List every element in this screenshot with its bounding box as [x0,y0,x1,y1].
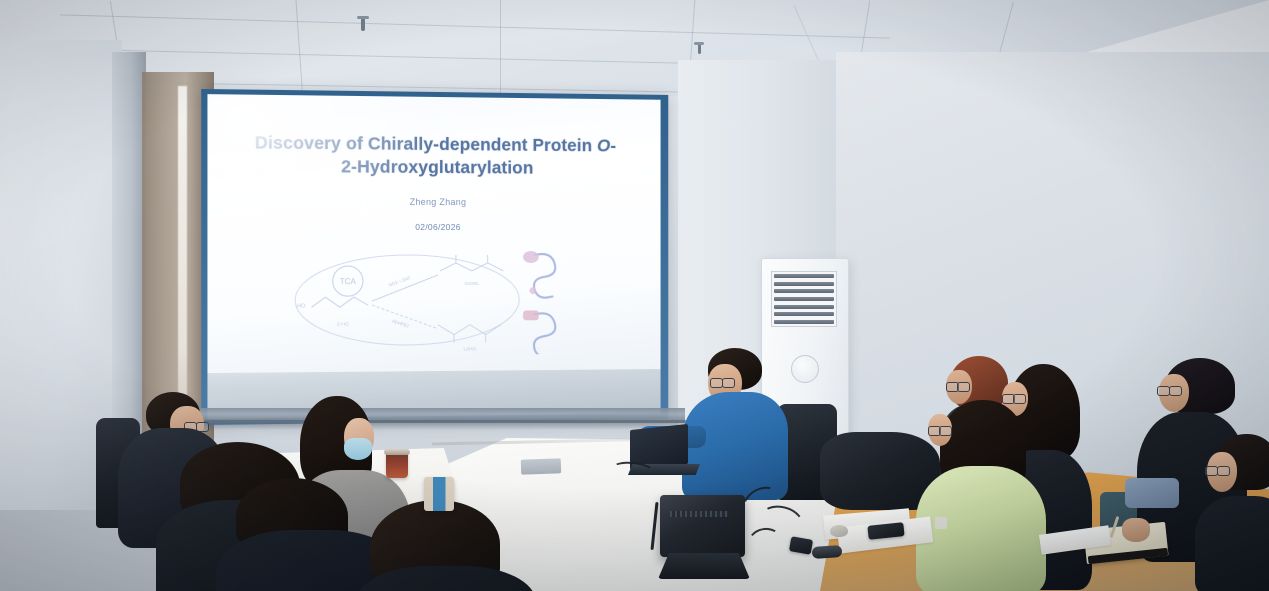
figure-dot-middle [529,287,536,294]
sprinkler-head-1 [361,18,365,31]
slide-pathway-figure: TCA HO 2-HG NOX / OAT ADHFE1 OGML L2H [259,245,612,356]
figure-label-2hg: 2-HG [337,321,349,327]
screen-surface: Discovery of Chirally-dependent Protein … [207,94,660,419]
window-sill-shadow [190,420,690,430]
jeans-lap [1125,478,1179,508]
figure-label-enzyme-bottom: ADHFE1 [391,319,410,329]
slide-title-part2: 2-Hydroxyglutarylation [341,156,533,177]
red-beverage-cup[interactable] [386,452,408,478]
meeting-room-photo: Discovery of Chirally-dependent Protein … [0,0,1269,591]
pathway-diagram-svg: TCA HO 2-HG NOX / OAT ADHFE1 OGML L2H [259,245,612,356]
sprinkler-head-2 [698,44,701,54]
protein-ribbon-bottom [523,310,555,356]
ac-louvers [771,271,837,327]
figure-label-ho: HO [297,303,306,309]
slide-title-part1: Discovery of Chirally-dependent Protein [255,132,597,155]
face-mask [344,438,372,460]
presentation-remote[interactable] [812,545,843,559]
writing-hand [1122,518,1150,542]
table-cable-port [521,458,561,474]
projection-screen: Discovery of Chirally-dependent Protein … [201,89,668,425]
projector-vent [670,511,728,517]
mouse[interactable] [830,525,848,537]
protein-ribbon-top [523,251,555,298]
sprinkler-plate-2 [694,42,704,45]
figure-label-tca: TCA [340,277,357,286]
slide-author: Zheng Zhang [207,196,660,208]
ac-brand-badge [791,355,819,383]
projected-slide: Discovery of Chirally-dependent Protein … [207,94,660,373]
projector-speaker-unit[interactable] [660,495,745,557]
figure-label-ogml: OGML [464,281,479,287]
body [1195,496,1269,591]
figure-label-enzyme-top: NOX / OAT [388,275,411,288]
slide-title-hyphen: - [610,135,616,155]
slide-date: 02/06/2026 [207,221,660,232]
figure-label-l2hg: L2HG [463,347,476,353]
projector-stand [658,553,750,579]
slide-title: Discovery of Chirally-dependent Protein … [236,131,635,181]
slide-title-italic-O: O [597,135,610,155]
blue-mug[interactable] [424,477,454,511]
sprinkler-plate-1 [357,16,369,19]
small-white-item [935,517,947,529]
